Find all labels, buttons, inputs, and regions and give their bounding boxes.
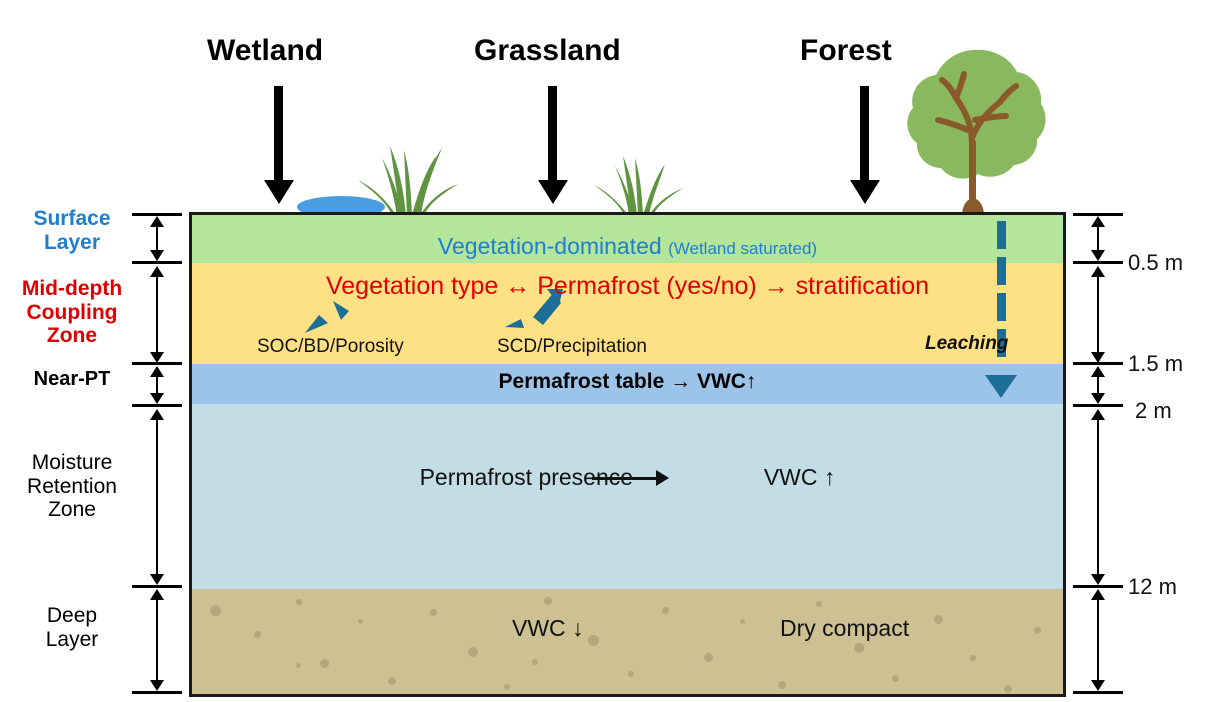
soil-profile-diagram: Vegetation-dominated (Wetland saturated)… [189, 212, 1066, 697]
grassland-down-arrow-icon [548, 86, 557, 182]
depth-arrow-2-down [1091, 393, 1105, 404]
dim-bar-mid [156, 270, 158, 355]
dim-arrow-surface-down [150, 250, 164, 261]
zone-label-mid-line1: Mid-depth [2, 277, 142, 301]
depth-cap-2 [1073, 404, 1123, 407]
depth-label-1-5m: 1.5 m [1128, 351, 1183, 377]
wetland-down-arrow-icon [274, 86, 283, 182]
zone-label-moisture-zone: Moisture Retention Zone [2, 451, 142, 522]
coupling-arrow-left-icon [297, 297, 357, 337]
surface-vegetation-scene: Wetland Grassland Forest [0, 0, 1214, 215]
dim-arrow-deep-down [150, 680, 164, 691]
depth-bar-12 [1097, 413, 1099, 577]
depth-cap-15 [1073, 362, 1123, 365]
annotation-deep-dry-compact: Dry compact [780, 615, 909, 642]
zone-label-nearpt-line1: Near-PT [2, 368, 142, 390]
dim-arrow-moist-down [150, 574, 164, 585]
zone-label-moist-line1: Moisture [2, 451, 142, 475]
annotation-vegetation-dominated: Vegetation-dominated (Wetland saturated) [192, 233, 1063, 260]
dim-bar-moist [156, 413, 158, 577]
zone-label-deep-line1: Deep [2, 604, 142, 628]
depth-label-12m: 12 m [1128, 574, 1177, 600]
dim-cap-mid-bottom [132, 362, 182, 365]
wetland-down-arrow-head-icon [264, 180, 294, 204]
annotation-driver-right: SCD/Precipitation [497, 336, 647, 358]
zone-label-mid-line3: Zone [2, 324, 142, 348]
annotation-driver-left: SOC/BD/Porosity [257, 336, 404, 358]
annotation-surface-sub: (Wetland saturated) [668, 239, 817, 258]
grass-tuft-icon-1 [352, 140, 462, 215]
depth-arrow-bottom-down [1091, 680, 1105, 691]
depth-arrow-12-down [1091, 574, 1105, 585]
zone-label-deep-line2: Layer [2, 628, 142, 652]
moisture-arrow-line-icon [592, 477, 658, 480]
annotation-coupling-main: Vegetation type ↔ Permafrost (yes/no) → … [192, 272, 1063, 301]
dim-bar-deep [156, 593, 158, 684]
grassland-down-arrow-head-icon [538, 180, 568, 204]
dim-cap-moist-bottom [132, 585, 182, 588]
tree-icon [898, 46, 1048, 216]
depth-cap-12 [1073, 585, 1123, 588]
depth-cap-bottom [1073, 691, 1123, 694]
dim-cap-surface-bottom [132, 261, 182, 264]
dim-arrow-nearpt-down [150, 393, 164, 404]
vegetation-label-wetland: Wetland [207, 34, 323, 68]
zone-label-surface-line2: Layer [2, 231, 142, 255]
zone-label-moist-line2: Retention [2, 475, 142, 499]
vegetation-label-forest: Forest [800, 34, 892, 68]
annotation-surface-main: Vegetation-dominated [438, 233, 662, 259]
zone-label-mid-depth: Mid-depth Coupling Zone [2, 277, 142, 348]
grass-tuft-icon-2 [590, 150, 685, 215]
dim-cap-deep-bottom [132, 691, 182, 694]
depth-label-0-5m: 0.5 m [1128, 250, 1183, 276]
depth-cap-05 [1073, 261, 1123, 264]
annotation-deep-vwc: VWC ↓ [512, 615, 584, 642]
dim-cap-nearpt-bottom [132, 404, 182, 407]
forest-down-arrow-icon [860, 86, 869, 182]
zone-label-near-pt: Near-PT [2, 368, 142, 390]
vegetation-label-grassland: Grassland [474, 34, 621, 68]
zone-label-deep-layer: Deep Layer [2, 604, 142, 651]
depth-arrow-05-down [1091, 250, 1105, 261]
depth-bar-15 [1097, 270, 1099, 355]
annotation-moisture-right: VWC ↑ [764, 464, 836, 490]
depth-bar-bottom [1097, 593, 1099, 684]
soil-layer-moisture-retention [192, 404, 1063, 589]
forest-down-arrow-head-icon [850, 180, 880, 204]
zone-label-moist-line3: Zone [2, 498, 142, 522]
moisture-arrow-head-icon [656, 470, 669, 486]
annotation-leaching: Leaching [925, 333, 1008, 355]
depth-label-2m: 2 m [1135, 398, 1172, 424]
zone-label-mid-line2: Coupling [2, 301, 142, 325]
annotation-permafrost-table: Permafrost table → VWC↑ [192, 370, 1063, 394]
soil-layer-deep [192, 589, 1063, 697]
